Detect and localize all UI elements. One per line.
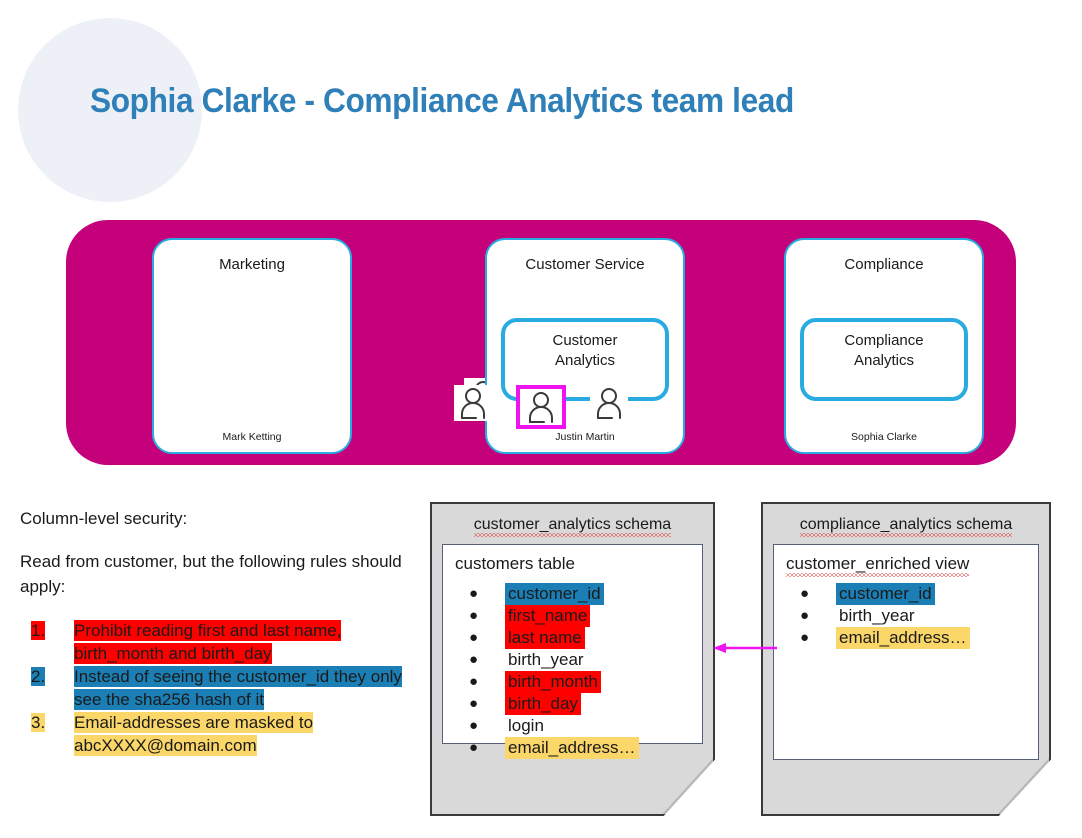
page-fold-corner	[998, 758, 1049, 814]
field-row[interactable]: ● birth_year	[800, 605, 1030, 627]
highlighted-person-icon-cell[interactable]	[516, 385, 566, 429]
arrow-left-icon	[713, 642, 777, 654]
schema-object-title-text: customer_enriched view	[786, 554, 969, 574]
field-row[interactable]: ● birth_month	[469, 671, 694, 693]
field-name: login	[505, 715, 547, 737]
person-icon	[526, 391, 556, 423]
rule-number: 1.	[28, 619, 74, 642]
field-row[interactable]: ● customer_id	[800, 583, 1030, 605]
rule-number-text: 3.	[31, 713, 45, 732]
notes-block: Column-level security: Read from custome…	[20, 506, 412, 599]
department-person-name: Justin Martin	[487, 431, 683, 443]
rule-number: 2.	[28, 665, 74, 688]
field-list: ● customer_id ● birth_year ● email_addre…	[800, 583, 1030, 649]
bullet-icon: ●	[800, 583, 836, 605]
analytics-group-label: Customer Analytics	[505, 331, 665, 371]
analytics-group-label: Compliance Analytics	[804, 331, 964, 371]
bullet-icon: ●	[469, 671, 505, 693]
field-name: email_address…	[836, 627, 970, 649]
field-name: birth_day	[505, 693, 581, 715]
document-title: customer_analytics schema	[432, 516, 713, 534]
page-fold-corner	[662, 758, 713, 814]
field-name: last name	[505, 627, 585, 649]
department-person-name: Mark Ketting	[154, 431, 350, 443]
slide-canvas: Sophia Clarke - Compliance Analytics tea…	[0, 0, 1082, 838]
field-name: customer_id	[505, 583, 604, 605]
field-name: birth_month	[505, 671, 601, 693]
rule-number-text: 1.	[31, 621, 45, 640]
field-row[interactable]: ● login	[469, 715, 694, 737]
rule-number: 3.	[28, 711, 74, 734]
field-row[interactable]: ● email_address…	[469, 737, 694, 759]
field-name: birth_year	[505, 649, 587, 671]
department-person-name: Sophia Clarke	[786, 431, 982, 443]
document-customer-analytics-schema[interactable]: customer_analytics schema customers tabl…	[430, 502, 715, 816]
people-row-compliance	[0, 385, 1082, 429]
schema-object-title-text: customers table	[455, 554, 575, 573]
rule-text-content: Email-addresses are masked to abcXXXX@do…	[74, 712, 313, 756]
page-title: Sophia Clarke - Compliance Analytics tea…	[90, 82, 794, 121]
field-list: ● customer_id ● first_name ● last name ●…	[469, 583, 694, 759]
bullet-icon: ●	[469, 715, 505, 737]
bullet-icon: ●	[800, 605, 836, 627]
document-title-text: customer_analytics schema	[474, 516, 671, 534]
bullet-icon: ●	[469, 605, 505, 627]
rule-text: Prohibit reading first and last name, bi…	[74, 619, 408, 665]
field-name: email_address…	[505, 737, 639, 759]
document-body-panel: customers table ● customer_id ● first_na…	[442, 544, 703, 744]
department-title: Compliance	[786, 256, 982, 273]
rule-item: 3. Email-addresses are masked to abcXXXX…	[28, 711, 408, 757]
bullet-icon: ●	[800, 627, 836, 649]
rule-text-content: Instead of seeing the customer_id they o…	[74, 666, 402, 710]
bullet-icon: ●	[469, 737, 505, 759]
document-title-text: compliance_analytics schema	[800, 516, 1013, 534]
schema-object-title: customer_enriched view	[786, 554, 969, 574]
rule-text-content: Prohibit reading first and last name, bi…	[74, 620, 341, 664]
rule-text: Instead of seeing the customer_id they o…	[74, 665, 408, 711]
bullet-icon: ●	[469, 627, 505, 649]
field-name: customer_id	[836, 583, 935, 605]
field-name: first_name	[505, 605, 590, 627]
document-body-panel: customer_enriched view ● customer_id ● b…	[773, 544, 1039, 760]
lineage-arrow	[713, 641, 777, 653]
field-row[interactable]: ● customer_id	[469, 583, 694, 605]
bullet-icon: ●	[469, 649, 505, 671]
document-title: compliance_analytics schema	[763, 516, 1049, 534]
rule-number-text: 2.	[31, 667, 45, 686]
notes-heading: Column-level security:	[20, 506, 412, 531]
department-title: Customer Service	[487, 256, 683, 273]
field-row[interactable]: ● birth_year	[469, 649, 694, 671]
spacer	[20, 531, 412, 549]
rule-item: 2. Instead of seeing the customer_id the…	[28, 665, 408, 711]
rule-text: Email-addresses are masked to abcXXXX@do…	[74, 711, 408, 757]
field-row[interactable]: ● first_name	[469, 605, 694, 627]
field-row[interactable]: ● birth_day	[469, 693, 694, 715]
notes-intro: Read from customer, but the following ru…	[20, 549, 412, 599]
department-title: Marketing	[154, 256, 350, 273]
field-name: birth_year	[836, 605, 918, 627]
document-compliance-analytics-schema[interactable]: compliance_analytics schema customer_enr…	[761, 502, 1051, 816]
field-row[interactable]: ● email_address…	[800, 627, 1030, 649]
bullet-icon: ●	[469, 583, 505, 605]
field-row[interactable]: ● last name	[469, 627, 694, 649]
rule-item: 1. Prohibit reading first and last name,…	[28, 619, 408, 665]
rules-list: 1. Prohibit reading first and last name,…	[28, 619, 408, 757]
schema-object-title: customers table	[455, 554, 575, 574]
bullet-icon: ●	[469, 693, 505, 715]
